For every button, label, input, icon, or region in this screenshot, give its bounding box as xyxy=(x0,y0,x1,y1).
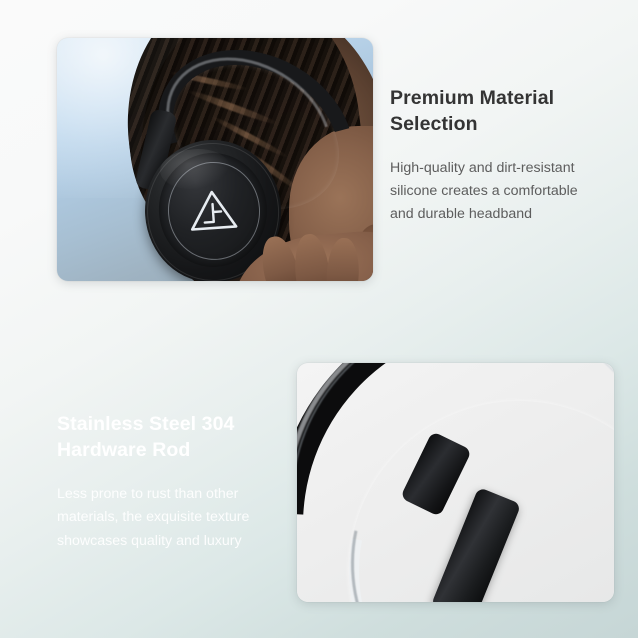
product-feature-promo: Premium MaterialSelection High-quality a… xyxy=(0,0,638,638)
heading-line-2: Hardware Rod xyxy=(57,439,190,461)
premium-material-heading: Premium MaterialSelection xyxy=(390,86,602,138)
heading-line-1: Stainless Steel 304 xyxy=(57,413,235,435)
premium-material-body: High-quality and dirt-resistant silicone… xyxy=(390,157,602,226)
stainless-steel-body: Less prone to rust than other materials,… xyxy=(57,483,289,554)
heading-line-2: Selection xyxy=(390,113,478,135)
premium-material-photo-card xyxy=(57,38,373,281)
heading-line-1: Premium Material xyxy=(390,87,554,109)
brand-triangle-logo-icon xyxy=(184,184,241,236)
premium-material-text-block: Premium MaterialSelection High-quality a… xyxy=(390,86,602,226)
stainless-steel-text-block: Stainless Steel 304Hardware Rod Less pro… xyxy=(57,412,289,554)
stainless-steel-heading: Stainless Steel 304Hardware Rod xyxy=(57,412,289,464)
stainless-steel-photo-card xyxy=(297,363,614,602)
